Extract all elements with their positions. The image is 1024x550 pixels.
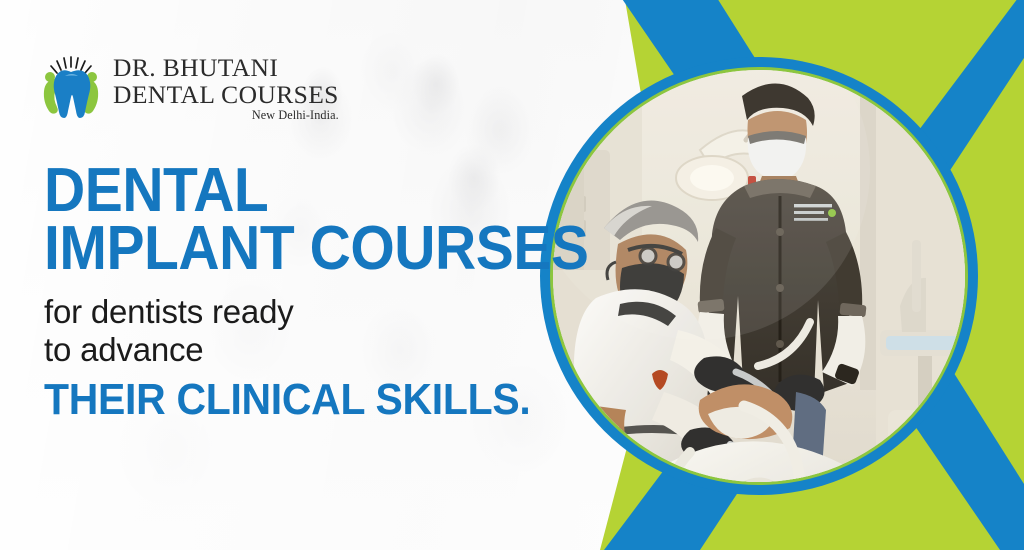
tooth-with-hands-logo-icon — [38, 55, 104, 121]
brand-logo[interactable]: DR. BHUTANI DENTAL COURSES New Delhi-Ind… — [38, 52, 306, 124]
logo-line-2: DENTAL COURSES — [113, 81, 339, 108]
headline-line-2: IMPLANT COURSES — [44, 220, 504, 278]
logo-wordmark: DR. BHUTANI DENTAL COURSES New Delhi-Ind… — [113, 54, 339, 121]
headline-accent-line: THEIR CLINICAL SKILLS. — [44, 378, 509, 422]
logo-tagline: New Delhi-India. — [113, 109, 339, 121]
headline-block: DENTAL IMPLANT COURSES for dentists read… — [44, 162, 544, 422]
subheadline-line-1: for dentists ready — [44, 293, 544, 331]
banner-root: DR. BHUTANI DENTAL COURSES New Delhi-Ind… — [0, 0, 1024, 550]
headline-line-1: DENTAL — [44, 162, 504, 220]
logo-line-1: DR. BHUTANI — [113, 54, 339, 81]
subheadline-line-2: to advance — [44, 331, 544, 369]
